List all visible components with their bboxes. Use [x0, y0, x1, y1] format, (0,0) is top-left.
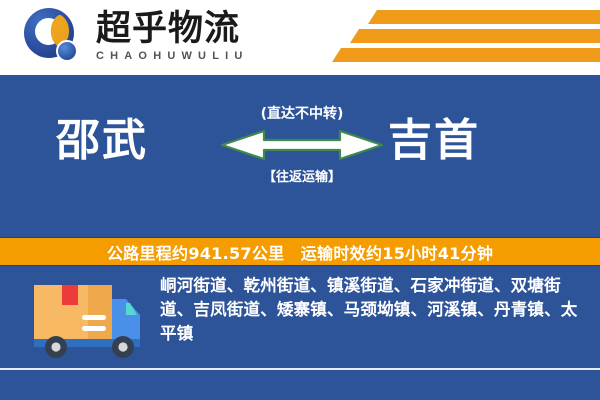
stripe-2	[350, 29, 600, 43]
bidirectional-arrow-icon	[218, 129, 386, 161]
logo-small-dot-icon	[56, 40, 78, 62]
brand-lockup: 超乎物流 CHAOHUWULIU	[22, 6, 249, 68]
brand-name-cn: 超乎物流	[96, 12, 249, 48]
brand-text-block: 超乎物流 CHAOHUWULIU	[96, 12, 249, 63]
stripe-3	[332, 48, 600, 62]
stripe-1	[368, 10, 600, 24]
footer-divider	[0, 368, 600, 370]
chaohu-circle-logo-icon	[22, 6, 84, 68]
poster-header: 超乎物流 CHAOHUWULIU	[0, 0, 600, 75]
header-stripe-decoration	[330, 8, 600, 66]
destination-city-label: 吉首	[388, 119, 480, 163]
distance-summary-text: 公路里程约941.57公里 运输时效约15小时41分钟	[107, 240, 493, 264]
route-middle-block: (直达不中转) 【往返运输】	[218, 103, 386, 185]
roundtrip-note-label: 【往返运输】	[218, 166, 386, 185]
coverage-section: 峒河街道、乾州街道、镇溪街道、石家冲街道、双塘街道、吉凤街道、矮寨镇、马颈坳镇、…	[0, 271, 600, 371]
poster-body: 邵武 (直达不中转) 【往返运输】 吉首 公路里程约941.57公里 运输时效约…	[0, 75, 600, 400]
logistics-route-poster: 超乎物流 CHAOHUWULIU 邵武 (直达不中转) 【往返运输】	[0, 0, 600, 400]
direct-note-label: (直达不中转)	[218, 103, 386, 123]
coverage-areas-text: 峒河街道、乾州街道、镇溪街道、石家冲街道、双塘街道、吉凤街道、矮寨镇、马颈坳镇、…	[160, 274, 580, 346]
route-section: 邵武 (直达不中转) 【往返运输】 吉首	[0, 75, 600, 237]
origin-city-label: 邵武	[56, 119, 148, 163]
distance-summary-bar: 公路里程约941.57公里 运输时效约15小时41分钟	[0, 237, 600, 266]
brand-name-en: CHAOHUWULIU	[96, 50, 249, 62]
delivery-truck-icon	[26, 277, 144, 361]
